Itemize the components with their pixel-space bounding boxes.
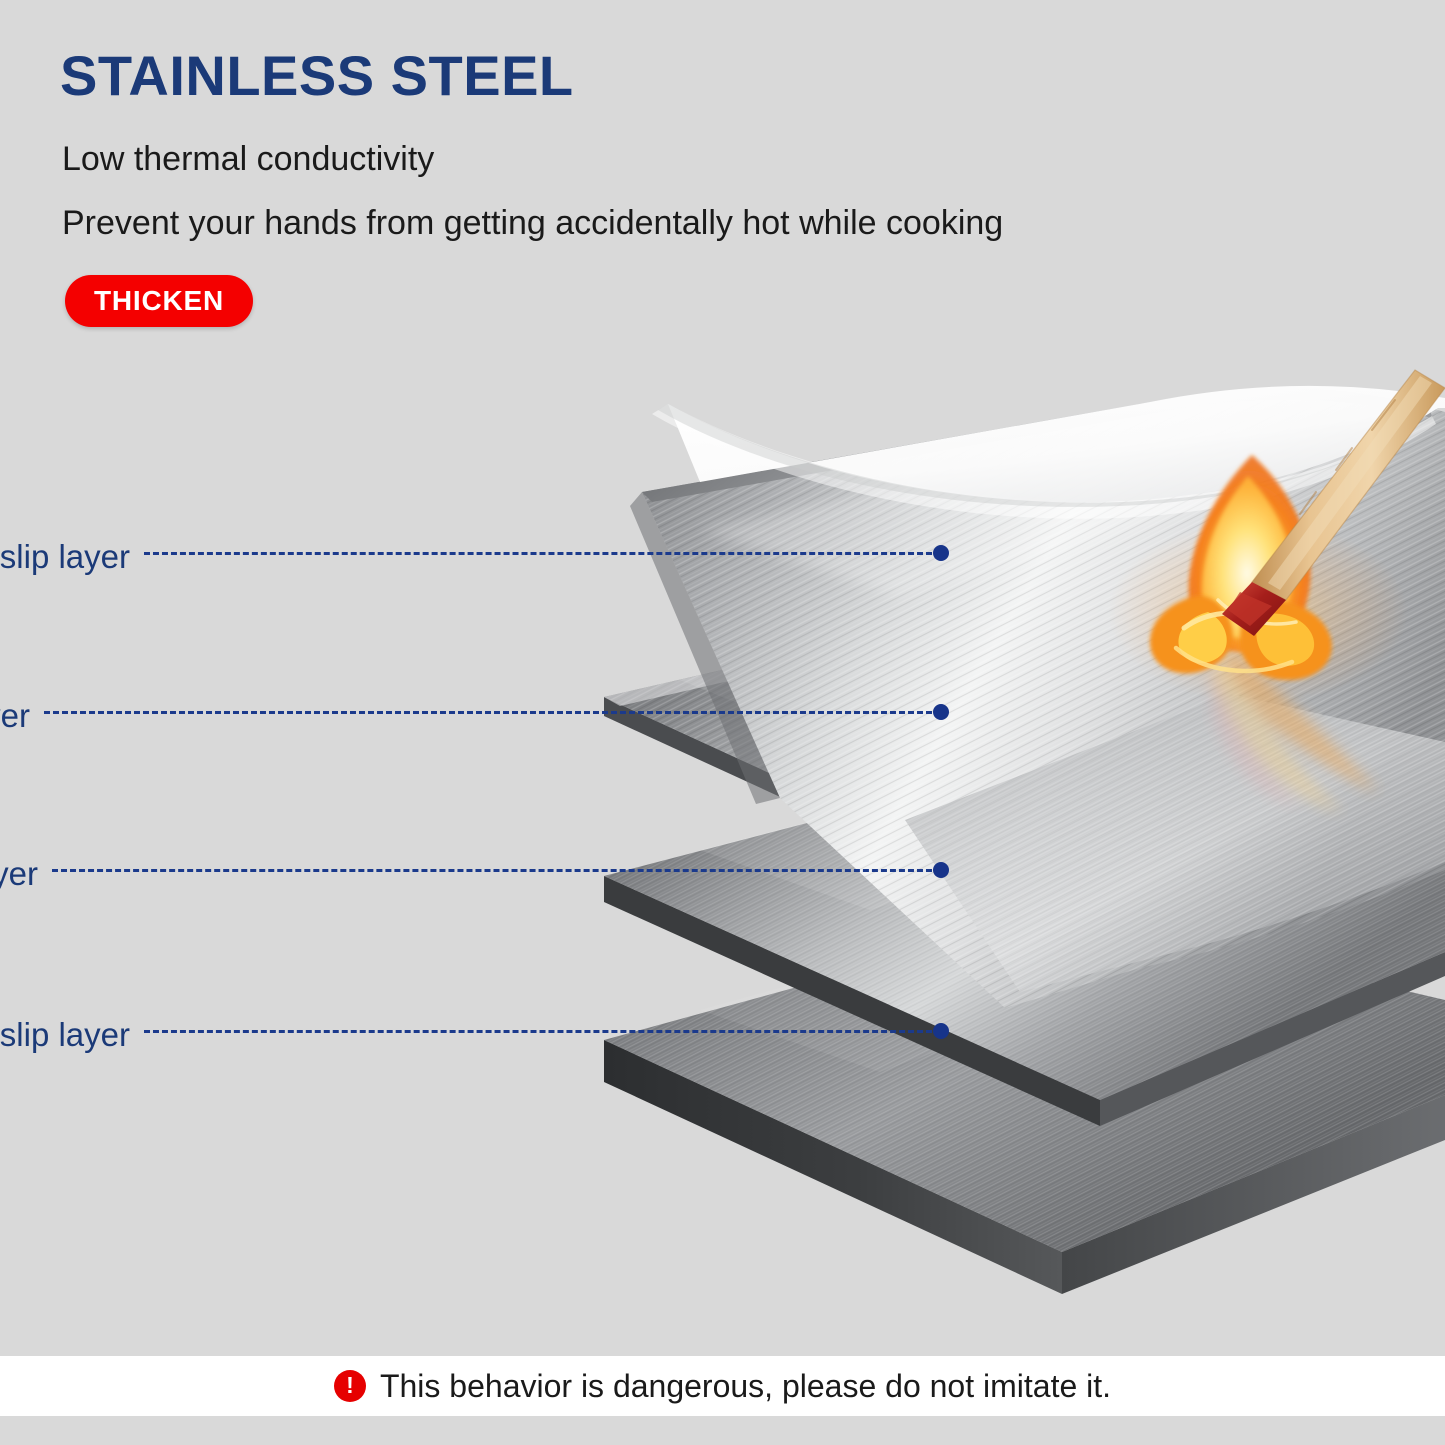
callout-label: Brushed anti-slip layer [0,1015,130,1055]
callout-endpoint-dot [933,1023,949,1039]
callout-leader-line [52,869,941,872]
callout-leader-line [44,711,941,714]
callout-endpoint-dot [933,545,949,561]
callout-label: Brushed anti-slip layer [0,537,130,577]
warning-text: This behavior is dangerous, please do no… [380,1368,1111,1405]
subtitle-prevent-hot-hands: Prevent your hands from getting accident… [62,204,1003,243]
steel-layers-illustration [0,0,1445,1345]
callout-endpoint-dot [933,862,949,878]
callout-label: High quality steel plate layer [0,854,38,894]
exclamation-circle-icon: ! [334,1370,366,1402]
thicken-badge-label: THICKEN [94,287,224,315]
subtitle-low-thermal-conductivity: Low thermal conductivity [62,140,434,179]
page-title: STAINLESS STEEL [60,48,574,104]
bottom-strip [0,1416,1445,1445]
callout-leader-line [144,552,941,555]
infographic-page: STAINLESS STEEL Low thermal conductivity… [0,0,1445,1445]
warning-banner: ! This behavior is dangerous, please do … [0,1356,1445,1416]
thicken-badge: THICKEN [65,275,253,327]
callout-label: Anti-rust reinforcement layer [0,696,30,736]
callout-leader-line [144,1030,941,1033]
exclamation-glyph: ! [346,1374,354,1397]
callout-endpoint-dot [933,704,949,720]
